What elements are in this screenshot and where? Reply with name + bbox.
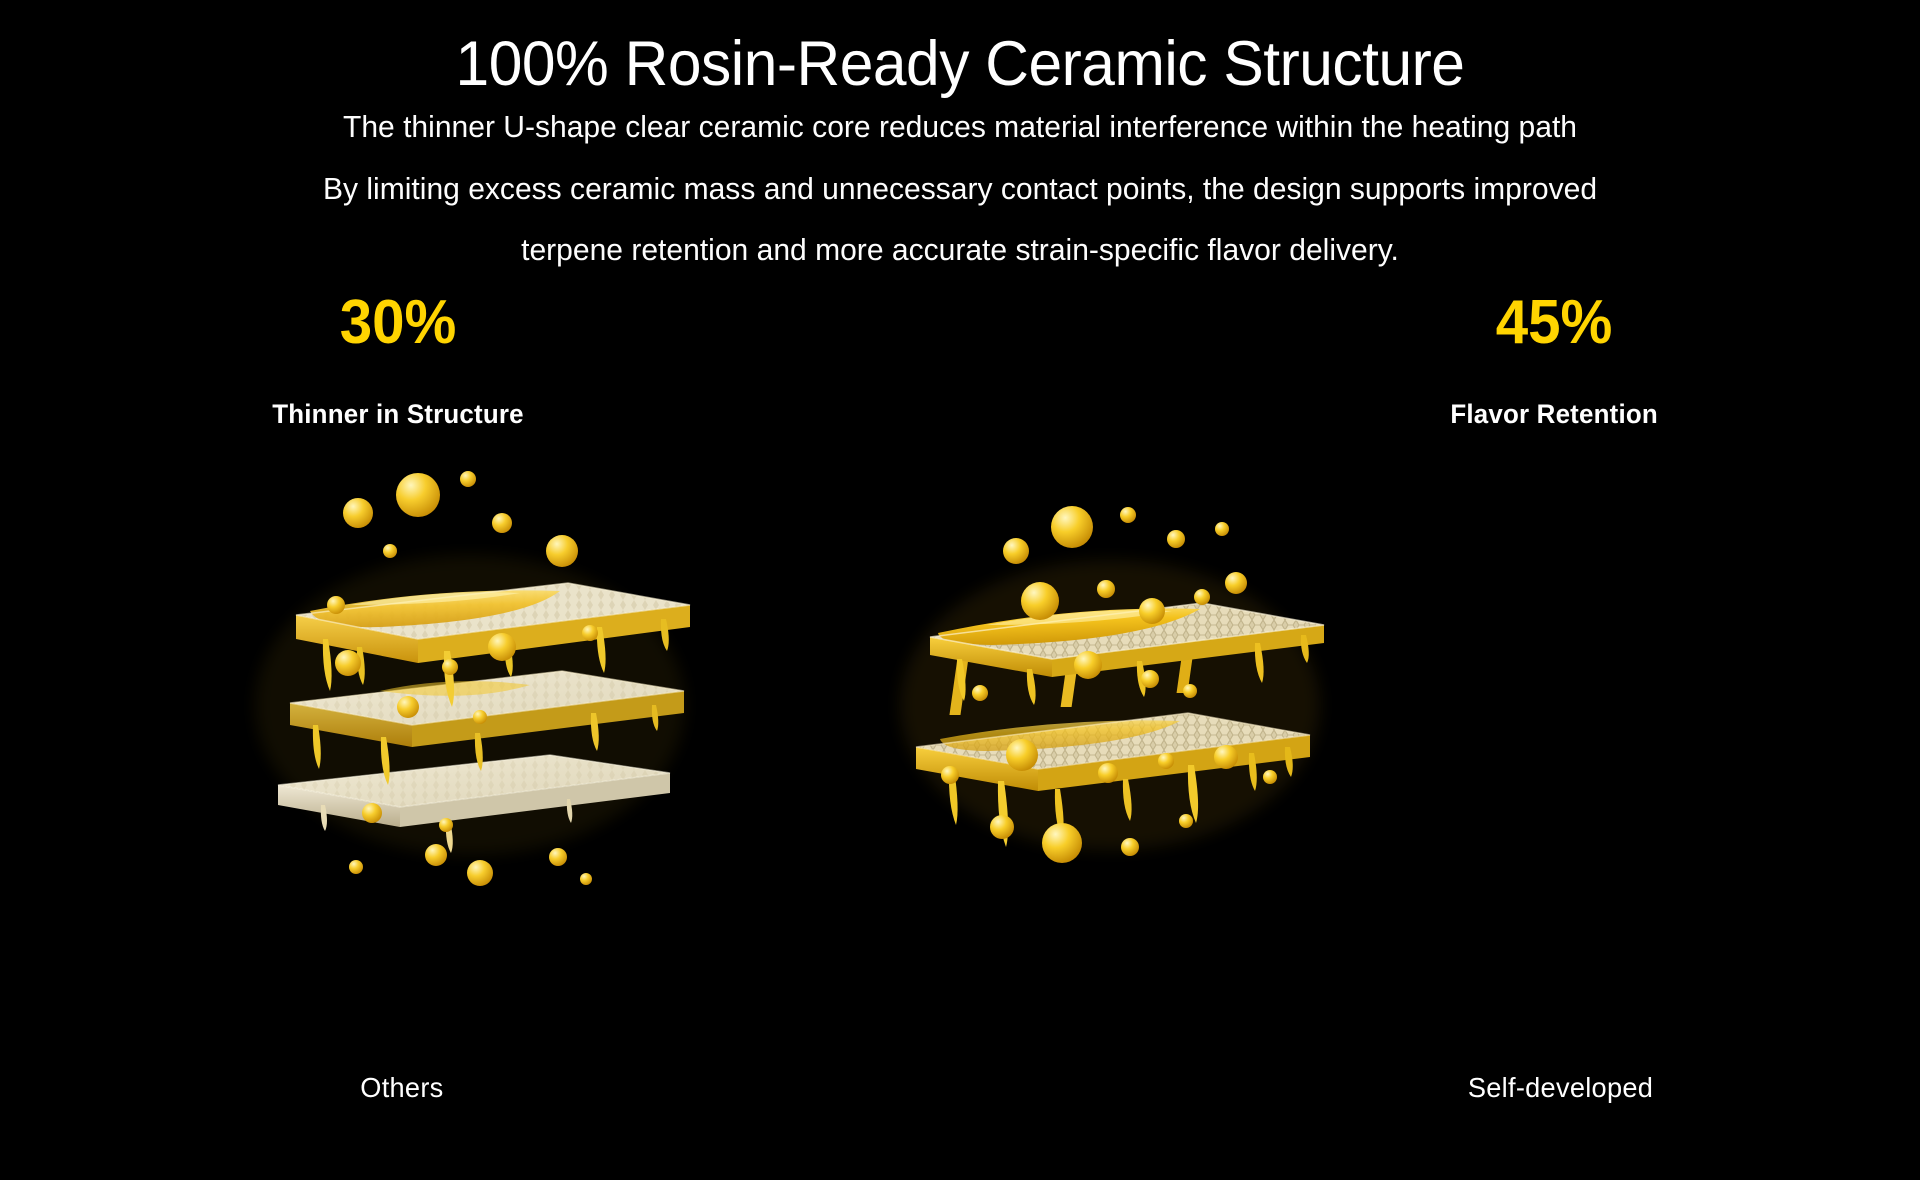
product-image-self-developed — [790, 455, 1430, 925]
stat-caption: Flavor Retention — [1450, 399, 1658, 430]
header: 100% Rosin-Ready Ceramic Structure The t… — [0, 0, 1920, 266]
stat-flavor-retention: 45% Flavor Retention — [1074, 292, 1920, 430]
self-developed-render — [790, 455, 1430, 925]
caption-others: Others — [0, 1072, 882, 1104]
product-image-others — [150, 455, 790, 925]
stat-caption: Thinner in Structure — [272, 399, 524, 430]
comparison-images — [0, 455, 1920, 925]
caption-label: Others — [360, 1072, 443, 1104]
subtitle-line-3: terpene retention and more accurate stra… — [14, 235, 1905, 266]
others-render — [150, 455, 790, 925]
stats-row: 30% Thinner in Structure 45% Flavor Rete… — [0, 292, 1920, 430]
stat-thinner-in-structure: 30% Thinner in Structure — [0, 292, 878, 430]
stat-value: 30% — [340, 292, 457, 354]
caption-label: Self-developed — [1467, 1072, 1652, 1104]
page-title: 100% Rosin-Ready Ceramic Structure — [38, 30, 1881, 98]
stat-value: 45% — [1496, 292, 1613, 354]
infographic-canvas: 100% Rosin-Ready Ceramic Structure The t… — [0, 0, 1920, 1180]
subtitle-block: The thinner U-shape clear ceramic core r… — [0, 112, 1920, 266]
comparison-captions: Others Self-developed — [0, 1072, 1920, 1104]
caption-self-developed: Self-developed — [1080, 1072, 1920, 1104]
subtitle-line-2: By limiting excess ceramic mass and unne… — [14, 174, 1905, 205]
subtitle-line-1: The thinner U-shape clear ceramic core r… — [14, 112, 1905, 143]
